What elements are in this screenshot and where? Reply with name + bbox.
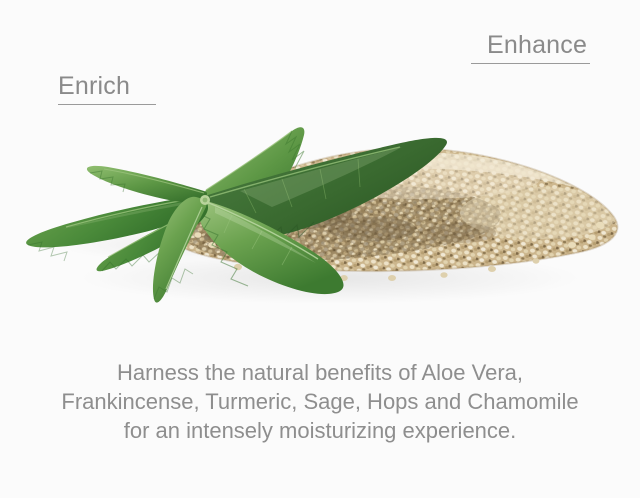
hero-image-hemp-leaf-and-seeds	[0, 95, 640, 325]
leaf-center-junction	[200, 195, 210, 205]
label-enhance-underline	[471, 63, 590, 64]
slide-canvas: Enhance Enrich	[0, 0, 640, 498]
leaflet-upper-left	[87, 166, 207, 202]
caption-line-3: for an intensely moisturizing experience…	[0, 416, 640, 445]
label-enhance-text: Enhance	[471, 33, 590, 58]
caption-line-2: Frankincense, Turmeric, Sage, Hops and C…	[0, 387, 640, 416]
caption-paragraph: Harness the natural benefits of Aloe Ver…	[0, 358, 640, 445]
label-enhance: Enhance	[471, 33, 590, 64]
caption-line-1: Harness the natural benefits of Aloe Ver…	[0, 358, 640, 387]
hemp-illustration	[0, 95, 640, 325]
